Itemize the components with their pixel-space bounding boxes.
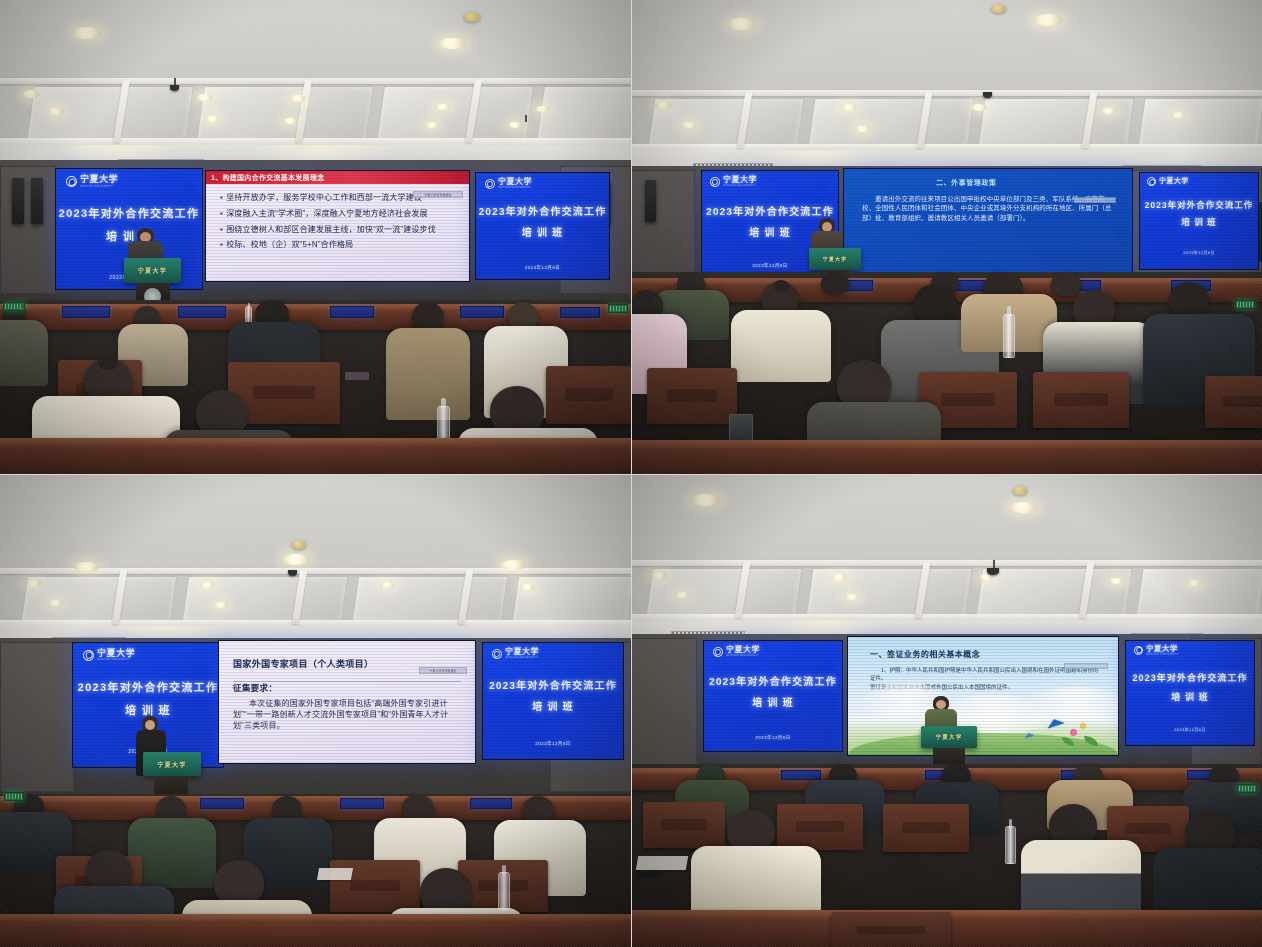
panel-top-left: 宁夏大学 NINGXIA UNIVERSITY 2023年对外合作交流工作 培 … xyxy=(0,0,631,474)
slide-heading: 二、外事管理政策 xyxy=(936,178,1132,188)
chair-back xyxy=(1033,372,1129,428)
papers xyxy=(317,868,353,880)
podium-label: 宁夏大学 xyxy=(936,733,963,741)
bullet-icon: ▪ xyxy=(220,209,223,220)
overview-slide: 1、构建国内合作交流基本发展理念 ▪ 坚持开放办学，服务学校中心工作和西部一流大… xyxy=(206,171,469,281)
university-name-en: NINGXIA UNIVERSITY xyxy=(505,656,539,659)
university-name-cn: 宁夏大学 xyxy=(80,175,118,184)
projector-icon xyxy=(987,568,999,575)
audience-area xyxy=(0,300,631,474)
bullet-icon: ▪ xyxy=(220,225,223,236)
ceiling xyxy=(631,0,1262,172)
exit-sign xyxy=(1237,784,1257,793)
slide-sub-heading: 征集要求： xyxy=(233,682,475,694)
smoke-detector-icon xyxy=(292,540,306,549)
slide-title-line2: 培 训 班 xyxy=(522,224,564,239)
university-name-en: NINGXIA UNIVERSITY xyxy=(1146,653,1179,656)
university-logo: 宁夏大学 NINGXIA UNIVERSITY xyxy=(83,649,135,661)
bullet-icon: ▪ xyxy=(220,193,223,204)
university-name-en: NINGXIA UNIVERSITY xyxy=(726,654,760,657)
wall-speaker xyxy=(645,180,656,222)
led-screen-right: 宁夏大学 2023年对外合作交流工作 培 训 班 2023年12月6日 xyxy=(1139,172,1259,270)
slide-title-line2: 培 训 班 xyxy=(1181,216,1216,228)
slide-title-line1: 2023年对外合作交流工作 xyxy=(59,205,200,221)
slide-title-date: 2023年12月6日 xyxy=(525,265,561,271)
bullet-text: 深度融入主流“学术圈”，深度融入宁夏地方经济社会发展 xyxy=(226,209,428,220)
slide-footer-tag xyxy=(1074,197,1116,203)
chair-back xyxy=(647,368,737,424)
slide-title-date: 2023年12月6日 xyxy=(535,741,571,747)
led-screen-right: 宁夏大学 NINGXIA UNIVERSITY 2023年对外合作交流工作 培 … xyxy=(475,172,610,280)
policy-slide: 二、外事管理政策 邀请出外交流的往来项目公出国申批权中央单位部门及三类、军队系统… xyxy=(844,169,1132,282)
podium-label: 宁夏大学 xyxy=(138,266,167,275)
chair-back xyxy=(777,804,863,850)
audience-area xyxy=(631,764,1262,947)
audience-head xyxy=(1051,272,1081,296)
water-bottle xyxy=(1005,826,1016,864)
slide-title-line2: 培 训 班 xyxy=(752,694,794,709)
podium: 宁夏大学 xyxy=(124,258,181,283)
desk-monitor xyxy=(340,798,384,809)
wall-speaker xyxy=(12,178,24,224)
university-logo: 宁夏大学 NINGXIA UNIVERSITY xyxy=(66,175,118,188)
slide-footer-tag: 宁夏大学合作发展处 xyxy=(419,667,467,674)
desk-monitor xyxy=(781,770,821,780)
visa-slide: 一、签证业务的相关基本概念 1、护照：中华人民共和国护照是中华人民共和国公民出入… xyxy=(848,637,1118,755)
chair-back xyxy=(883,804,969,852)
smoke-detector-icon xyxy=(991,4,1006,13)
desk-monitor xyxy=(178,306,226,318)
university-logo: 宁夏大学 NINGXIA UNIVERSITY xyxy=(713,646,760,657)
panel-bottom-right: 宁夏大学 NINGXIA UNIVERSITY 2023年对外合作交流工作 培 … xyxy=(631,474,1262,947)
slide-title-line1: 2023年对外合作交流工作 xyxy=(706,203,834,218)
slide-title-line1: 2023年对外合作交流工作 xyxy=(709,673,837,688)
papers xyxy=(636,856,688,870)
slide-paragraph: 本次征集的国家外国专家项目包括“高端外国专家引进计划”“一带一路创新人才交流外国… xyxy=(233,698,461,732)
university-logo: 宁夏大学 xyxy=(1147,177,1189,186)
slide-title-date: 2023年12月6日 xyxy=(1183,250,1215,256)
ceiling xyxy=(631,474,1262,642)
chair-back xyxy=(1205,376,1262,428)
desk-monitor xyxy=(330,306,374,318)
wall-speaker xyxy=(31,178,43,224)
audience-head xyxy=(913,284,957,324)
university-name-cn: 宁夏大学 xyxy=(1159,178,1189,185)
slide-footer-tag xyxy=(1064,663,1108,669)
exit-sign xyxy=(3,302,25,311)
chair-back xyxy=(643,802,725,848)
podium-label: 宁夏大学 xyxy=(157,760,186,769)
slide-title-line2: 培 训 班 xyxy=(749,224,791,239)
podium: 宁夏大学 xyxy=(809,248,861,270)
slide-title-line2: 培 训 班 xyxy=(1171,690,1208,703)
panel-bottom-left: 宁夏大学 NINGXIA UNIVERSITY 2023年对外合作交流工作 培 … xyxy=(0,474,631,947)
university-name-en: NINGXIA UNIVERSITY xyxy=(80,185,118,188)
led-screen-right: 宁夏大学 NINGXIA UNIVERSITY 2023年对外合作交流工作 培 … xyxy=(482,642,624,760)
bullet-text: 围绕立德树人和部区合建发展主线，加快“双一流”建设步伐 xyxy=(226,225,436,236)
flower-graphic xyxy=(1070,729,1077,736)
audience-head xyxy=(1169,282,1209,318)
led-screen-center-slide: 国家外国专家项目（个人类项目） 征集要求： 本次征集的国家外国专家项目包括“高端… xyxy=(218,640,476,764)
slide-title-line1: 2023年对外合作交流工作 xyxy=(489,677,617,692)
slide-bullet-list: ▪ 坚持开放办学，服务学校中心工作和西部一流大学建设 ▪ 深度融入主流“学术圈”… xyxy=(220,193,459,251)
slide-banner-text: 1、构建国内合作交流基本发展理念 xyxy=(211,173,324,183)
desk-monitor xyxy=(460,306,504,318)
projector-icon xyxy=(170,85,179,91)
audience-coat xyxy=(0,320,48,386)
flower-graphic xyxy=(1080,723,1086,729)
slide-title-line1: 2023年对外合作交流工作 xyxy=(1132,671,1247,684)
slide-title-date: 2023年12月6日 xyxy=(755,735,791,741)
audience-area xyxy=(0,794,631,947)
slide-title-date: 2023年12月6日 xyxy=(1174,727,1206,733)
title-slide: 宁夏大学 NINGXIA UNIVERSITY 2023年对外合作交流工作 培 … xyxy=(476,173,609,279)
slide-footer-tag: 宁夏大学合作发展处 xyxy=(413,191,463,198)
led-screen-center: 二、外事管理政策 邀请出外交流的往来项目公出国申批权中央单位部门及三类、军队系统… xyxy=(843,168,1133,283)
projector-icon xyxy=(288,570,297,576)
audience-coat xyxy=(691,846,821,920)
slide-title-line1: 2023年对外合作交流工作 xyxy=(479,203,607,218)
title-slide: 宁夏大学 NINGXIA UNIVERSITY 2023年对外合作交流工作 培 … xyxy=(483,643,623,759)
bullet-icon: ▪ xyxy=(220,240,223,251)
experts-slide: 国家外国专家项目（个人类项目） 征集要求： 本次征集的国家外国专家项目包括“高端… xyxy=(219,641,475,763)
collage-divider-horizontal xyxy=(0,474,1262,475)
slide-heading: 一、签证业务的相关基本概念 xyxy=(870,649,1118,660)
slide-title-line1: 2023年对外合作交流工作 xyxy=(78,679,219,695)
exit-sign xyxy=(4,792,24,801)
university-name-en: NINGXIA UNIVERSITY xyxy=(723,184,757,187)
desk-monitor xyxy=(560,307,600,318)
ceiling xyxy=(0,474,631,646)
list-item: ▪ 围绕立德树人和部区合建发展主线，加快“双一流”建设步伐 xyxy=(220,225,459,236)
phone xyxy=(345,372,369,380)
slide-title-line2: 培 训 班 xyxy=(532,698,574,713)
led-screen-right: 宁夏大学 NINGXIA UNIVERSITY 2023年对外合作交流工作 培 … xyxy=(1125,640,1255,746)
photo-collage: 宁夏大学 NINGXIA UNIVERSITY 2023年对外合作交流工作 培 … xyxy=(0,0,1262,947)
audience-coat xyxy=(386,328,470,420)
audience-head xyxy=(821,272,849,294)
university-name-en: NINGXIA UNIVERSITY xyxy=(97,658,135,661)
panel-top-right: 宁夏大学 NINGXIA UNIVERSITY 2023年对外合作交流工作 培 … xyxy=(631,0,1262,474)
lecture-hall-room: 宁夏大学 NINGXIA UNIVERSITY 2023年对外合作交流工作 培 … xyxy=(0,0,631,474)
bullet-text: 校际、校地（企）双“5+N”合作格局 xyxy=(226,240,353,251)
university-logo: 宁夏大学 NINGXIA UNIVERSITY xyxy=(1134,645,1179,656)
exit-sign xyxy=(608,304,628,313)
audience-coat xyxy=(731,310,831,382)
podium: 宁夏大学 xyxy=(921,726,977,748)
water-bottle xyxy=(1003,314,1015,358)
university-logo: 宁夏大学 NINGXIA UNIVERSITY xyxy=(485,178,532,189)
projector-icon xyxy=(983,92,992,98)
lecture-hall-room: 宁夏大学 NINGXIA UNIVERSITY 2023年对外合作交流工作 培 … xyxy=(0,474,631,947)
audience-area xyxy=(631,272,1262,474)
exit-sign xyxy=(1235,300,1255,309)
bullet-text: 坚持开放办学，服务学校中心工作和西部一流大学建设 xyxy=(226,193,422,204)
slide-banner: 1、构建国内合作交流基本发展理念 xyxy=(206,171,469,184)
phone xyxy=(635,870,661,878)
slide-title-line1: 2023年对外合作交流工作 xyxy=(1145,199,1254,211)
university-name-en: NINGXIA UNIVERSITY xyxy=(498,186,532,189)
slide-title-date: 2023年12月6日 xyxy=(752,263,788,269)
university-logo: 宁夏大学 NINGXIA UNIVERSITY xyxy=(710,176,757,187)
lecture-hall-room: 宁夏大学 NINGXIA UNIVERSITY 2023年对外合作交流工作 培 … xyxy=(631,474,1262,947)
title-slide: 宁夏大学 NINGXIA UNIVERSITY 2023年对外合作交流工作 培 … xyxy=(704,641,842,751)
title-slide: 宁夏大学 2023年对外合作交流工作 培 训 班 2023年12月6日 xyxy=(1140,173,1258,269)
list-item: ▪ 校际、校地（企）双“5+N”合作格局 xyxy=(220,240,459,251)
audience-coat xyxy=(1021,840,1141,920)
led-screen-center: 1、构建国内合作交流基本发展理念 ▪ 坚持开放办学，服务学校中心工作和西部一流大… xyxy=(205,170,470,282)
smoke-detector-icon xyxy=(1013,486,1027,495)
podium-label: 宁夏大学 xyxy=(823,256,847,263)
list-item: ▪ 深度融入主流“学术圈”，深度融入宁夏地方经济社会发展 xyxy=(220,209,459,220)
water-bottle xyxy=(498,872,510,910)
smoke-detector-icon xyxy=(464,12,480,22)
podium: 宁夏大学 xyxy=(143,752,201,776)
chair-back xyxy=(546,366,631,424)
lecture-hall-room: 宁夏大学 NINGXIA UNIVERSITY 2023年对外合作交流工作 培 … xyxy=(631,0,1262,474)
slide-paragraph-line1: 1、护照：中华人民共和国护照是中华人民共和国公民出入国境和在国外证明国籍和身份的… xyxy=(870,668,1102,683)
desk-monitor xyxy=(62,306,110,318)
desk-monitor xyxy=(470,798,512,809)
desk-monitor xyxy=(200,798,244,809)
led-screen-left: 宁夏大学 NINGXIA UNIVERSITY 2023年对外合作交流工作 培 … xyxy=(703,640,843,752)
university-logo: 宁夏大学 NINGXIA UNIVERSITY xyxy=(492,648,539,659)
led-screen-center: 一、签证业务的相关基本概念 1、护照：中华人民共和国护照是中华人民共和国公民出入… xyxy=(847,636,1119,756)
chair-back xyxy=(831,912,951,947)
title-slide: 宁夏大学 NINGXIA UNIVERSITY 2023年对外合作交流工作 培 … xyxy=(1126,641,1254,745)
